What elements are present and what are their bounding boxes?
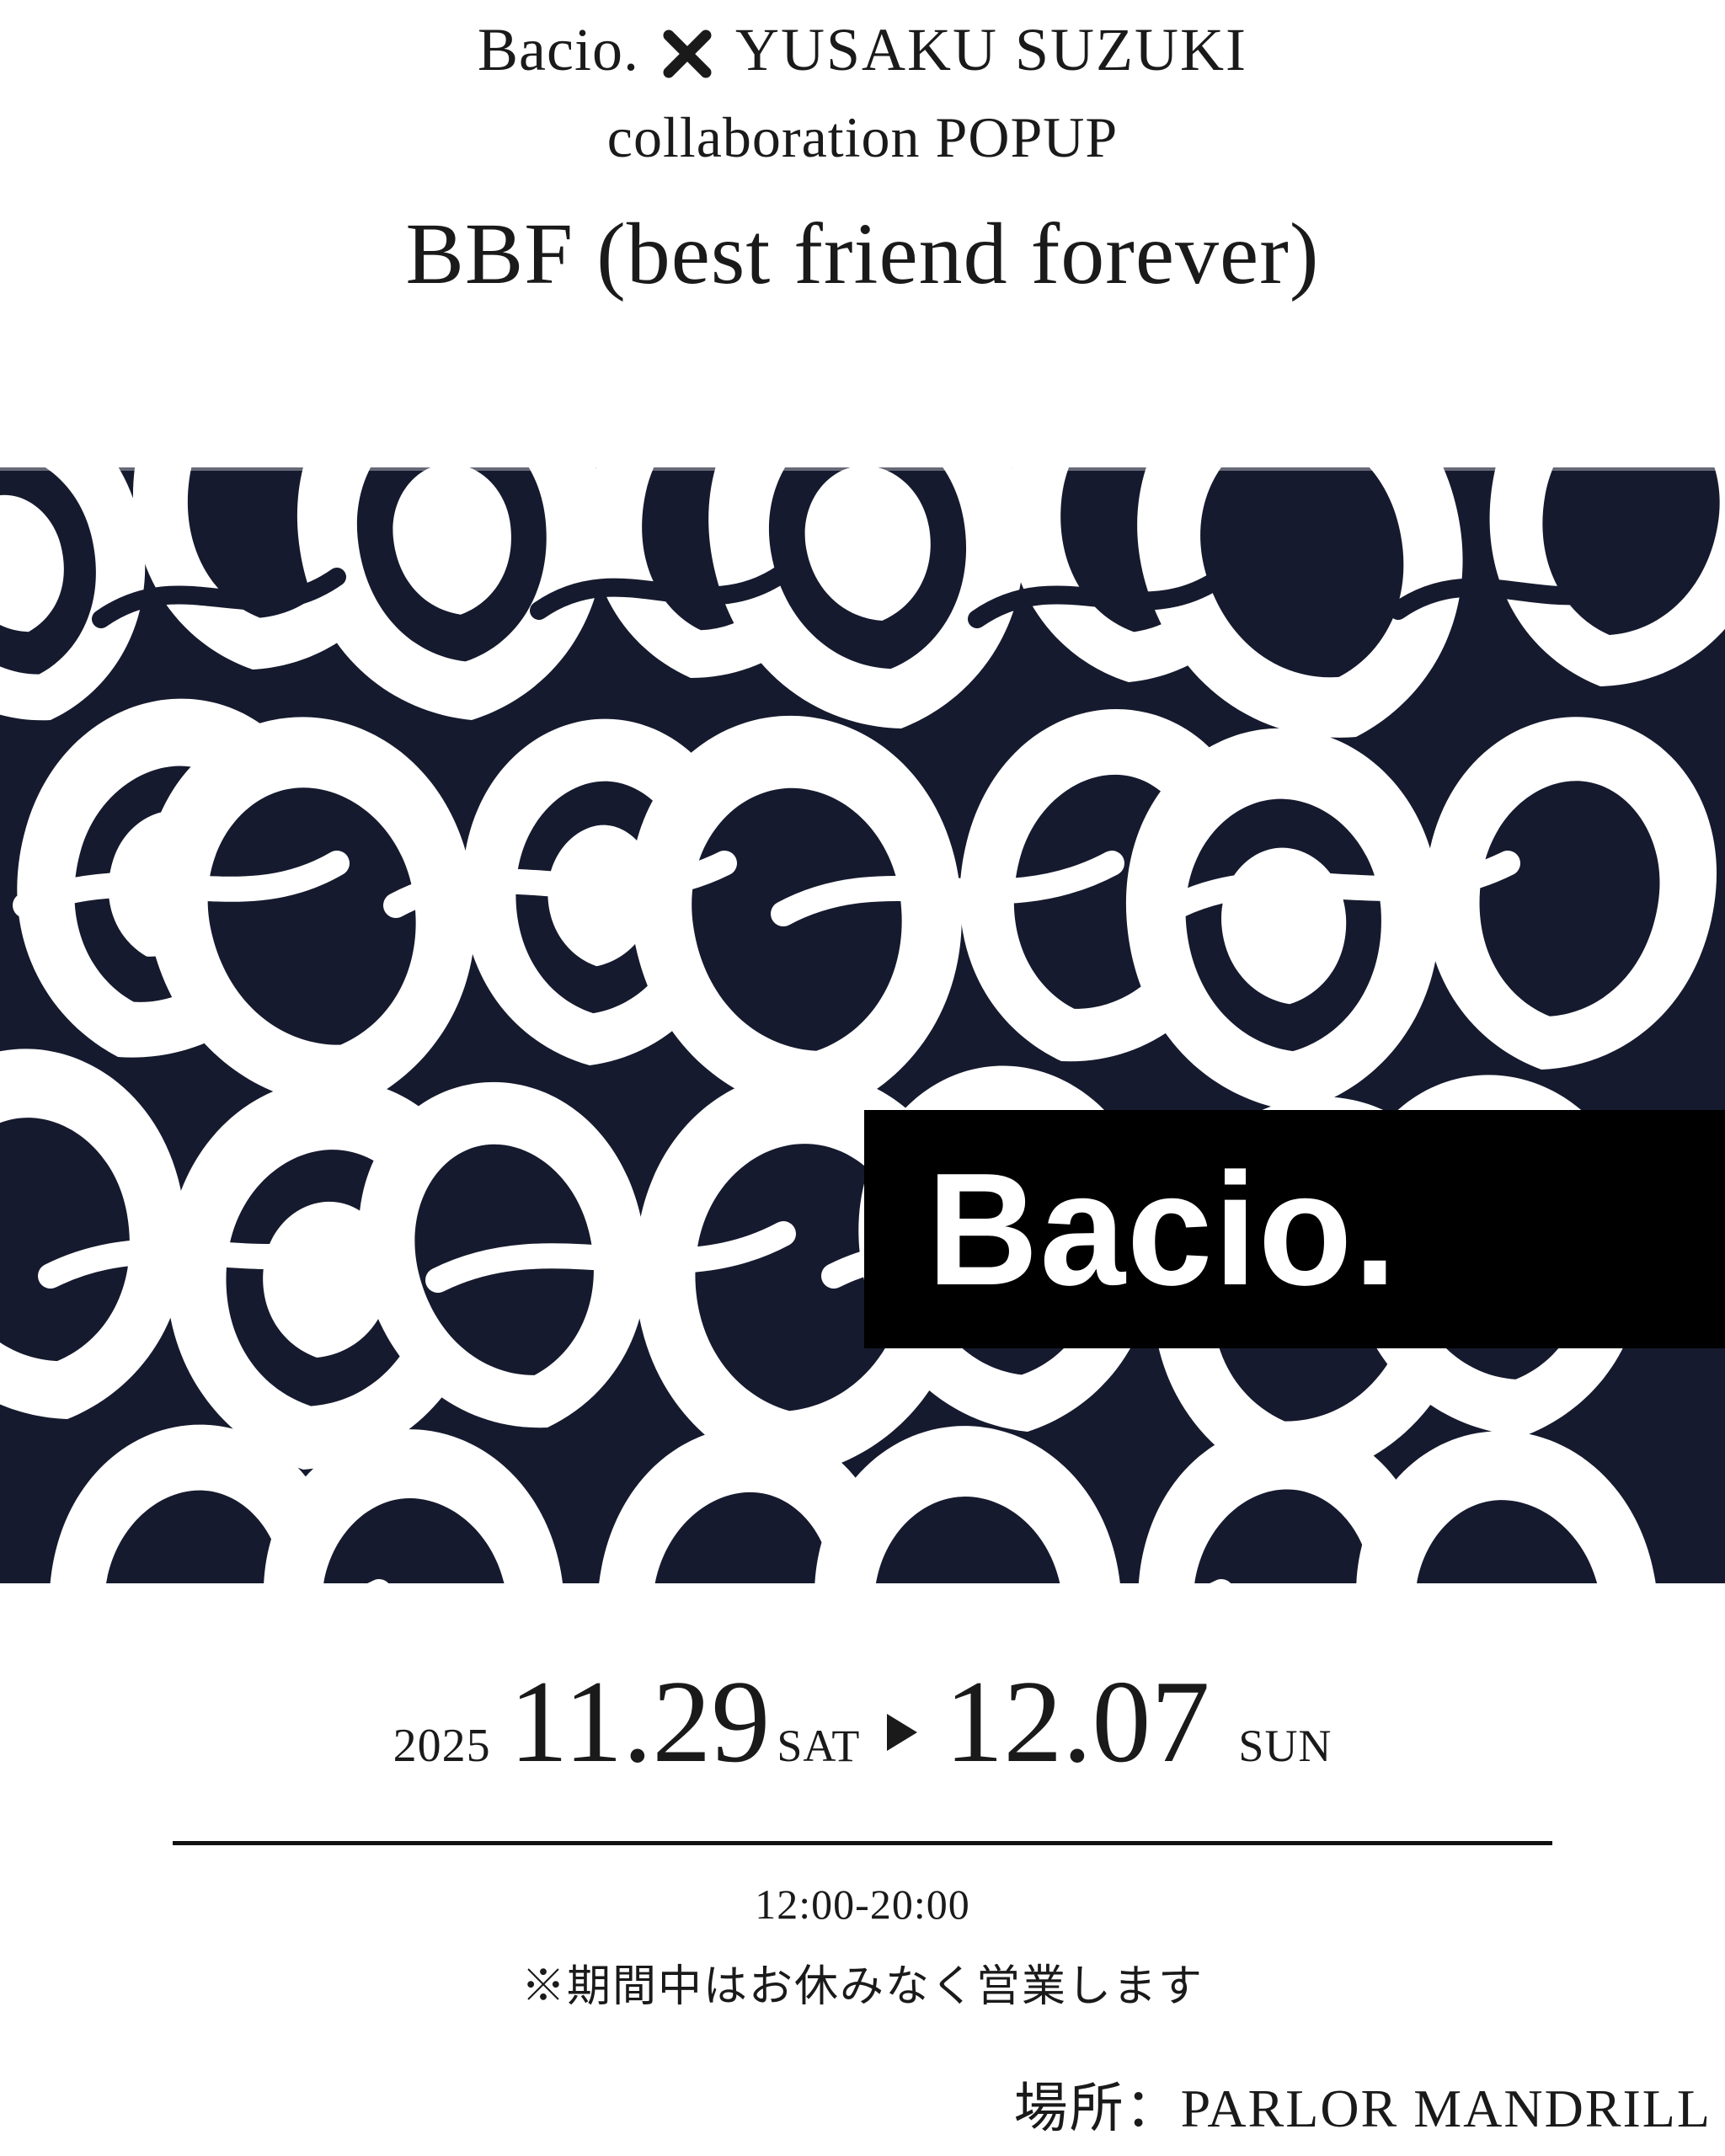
right-triangle-icon (884, 1710, 921, 1758)
brand-name: Bacio. (478, 19, 639, 83)
divider-rule (173, 1841, 1552, 1845)
poster-root: Bacio. YUSAKU SUZUKI collaboration POPUP… (0, 0, 1725, 2156)
event-start-dayofweek: SAT (777, 1720, 860, 1772)
poster-header: Bacio. YUSAKU SUZUKI collaboration POPUP… (0, 0, 1725, 300)
event-year: 2025 (393, 1719, 491, 1773)
event-end-date: 12.07 (944, 1663, 1210, 1781)
event-date-range: 2025 11.29 SAT 12.07 SUN (0, 1663, 1725, 1781)
opening-note: ※期間中はお休みなく営業します (0, 1951, 1725, 2014)
collaboration-line: Bacio. YUSAKU SUZUKI (0, 19, 1725, 83)
event-end-dayofweek: SUN (1238, 1720, 1332, 1772)
bacio-logo-text: Bacio. (864, 1150, 1398, 1310)
collaboration-subtitle: collaboration POPUP (0, 108, 1725, 168)
venue-label: 場所：PARLOR MANDRILL (0, 2065, 1725, 2143)
page-title: BBF (best friend forever) (0, 208, 1725, 300)
artwork-image: Bacio. (0, 467, 1725, 1583)
multiplication-cross-icon (661, 28, 713, 80)
partner-name: YUSAKU SUZUKI (735, 19, 1247, 83)
bacio-logo-plate: Bacio. (864, 1110, 1725, 1348)
event-start-date: 11.29 (510, 1663, 771, 1781)
opening-hours: 12:00-20:00 (0, 1880, 1725, 1929)
